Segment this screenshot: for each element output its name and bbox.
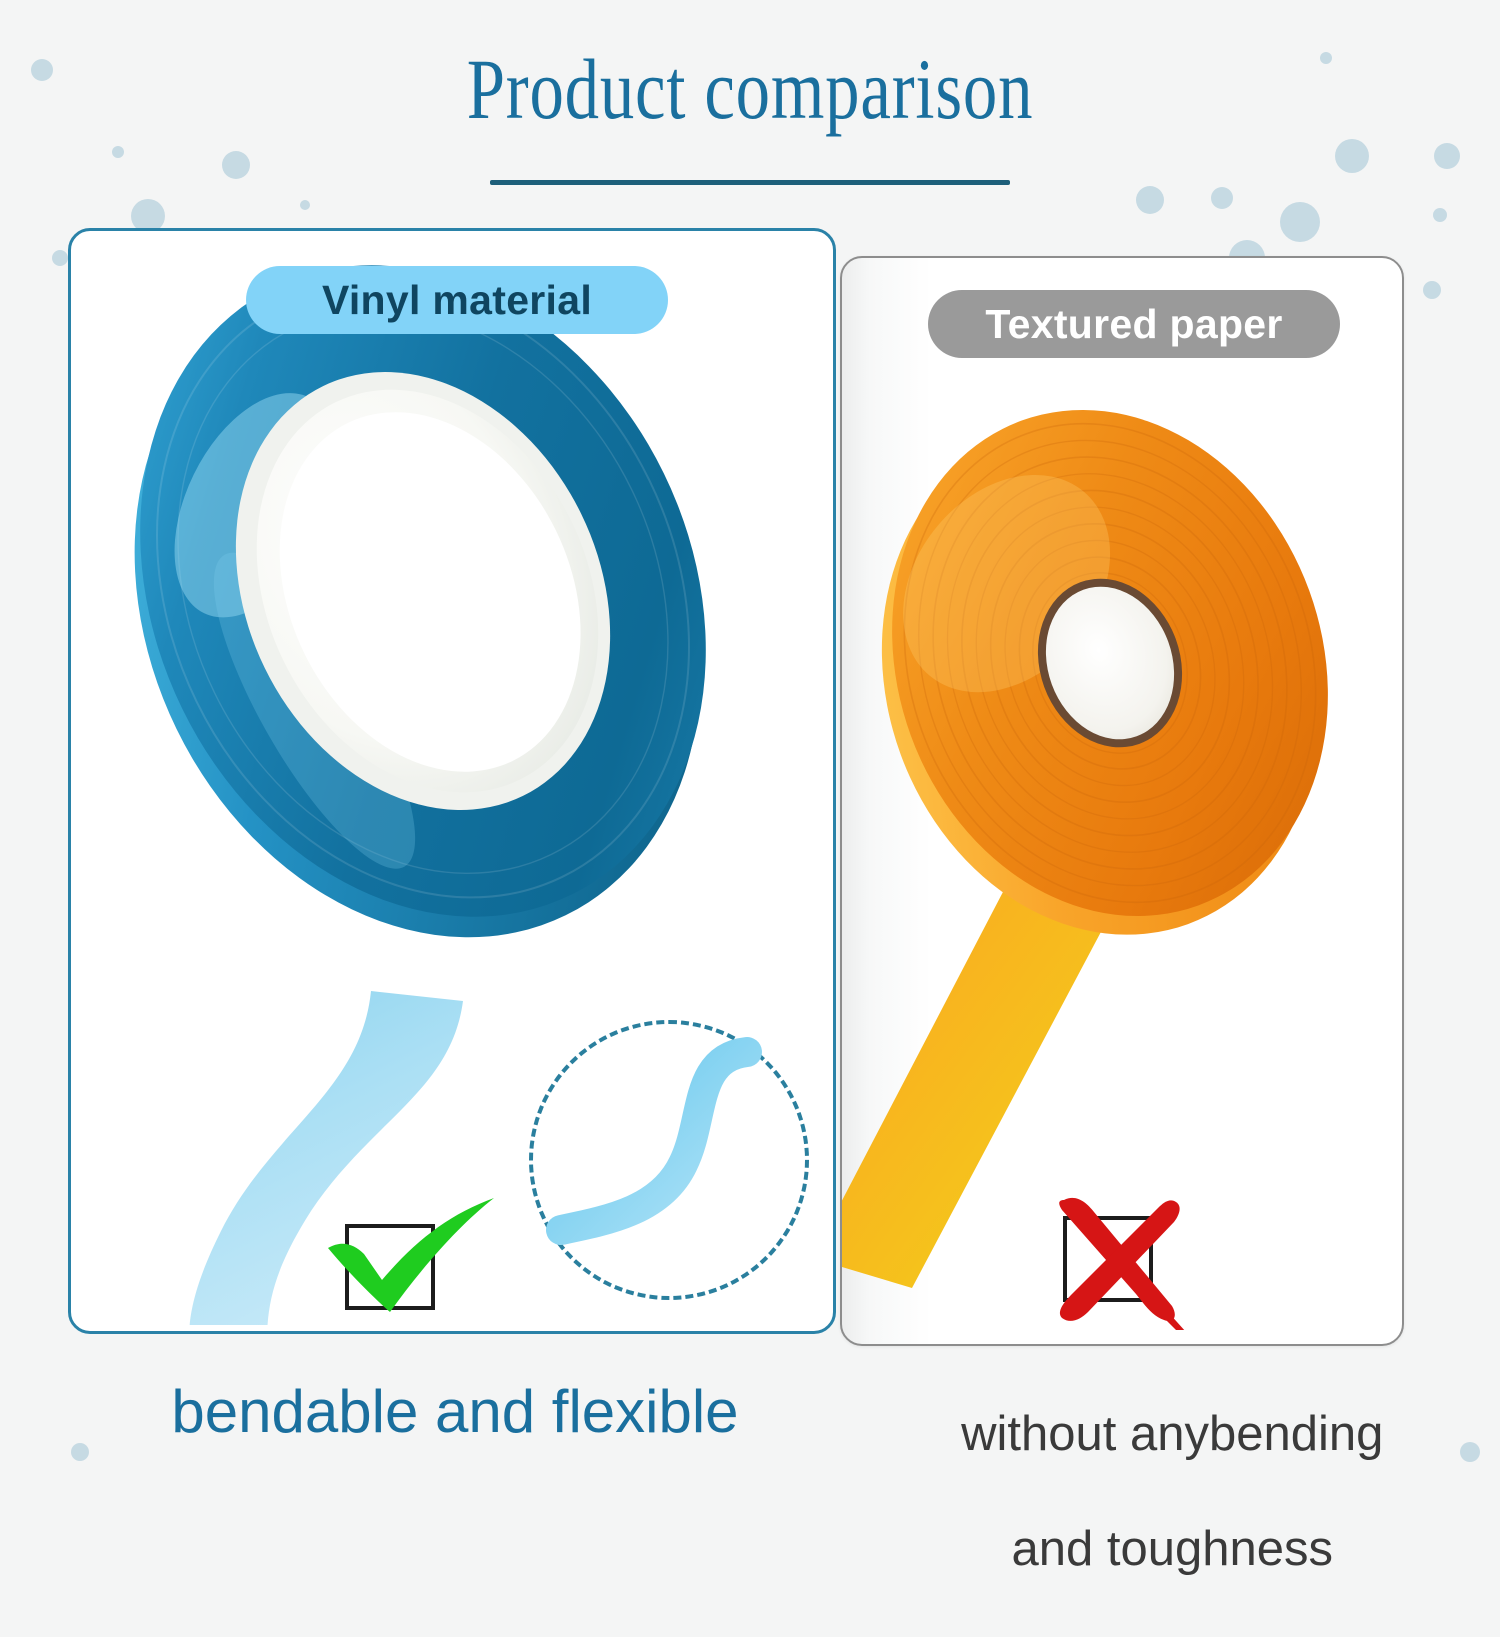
flexibility-callout-circle <box>529 1020 809 1300</box>
caption-paper-line1: without anybending <box>961 1407 1383 1461</box>
decorative-dot <box>1434 143 1460 169</box>
decorative-dot <box>300 200 310 210</box>
checkbox-outline-fail <box>1063 1216 1153 1302</box>
decorative-dot <box>1136 186 1164 214</box>
s-curve-icon <box>533 1024 797 1288</box>
decorative-dot <box>1423 281 1441 299</box>
infographic-stage: Product comparison <box>0 0 1500 1500</box>
decorative-dot <box>1280 202 1320 242</box>
decorative-dot <box>222 151 250 179</box>
page-title: Product comparison <box>150 44 1350 134</box>
decorative-dot <box>52 250 68 266</box>
caption-vinyl: bendable and flexible <box>60 1378 850 1445</box>
checkbox-outline-pass <box>345 1224 435 1310</box>
caption-paper-line2: and toughness <box>1011 1522 1333 1576</box>
decorative-dot <box>31 59 53 81</box>
decorative-dot <box>1335 139 1369 173</box>
decorative-dot <box>1211 187 1233 209</box>
caption-paper: without anybending and toughness <box>830 1348 1460 1637</box>
title-underline <box>490 180 1010 185</box>
panel-textured-paper[interactable] <box>840 256 1404 1346</box>
orange-paper-tape-roll-image <box>842 258 1402 1344</box>
decorative-dot <box>112 146 124 158</box>
badge-vinyl-material: Vinyl material <box>246 266 668 334</box>
badge-textured-paper: Textured paper <box>928 290 1340 358</box>
decorative-dot <box>1460 1442 1480 1462</box>
decorative-dot <box>1433 208 1447 222</box>
decorative-dot <box>71 1443 89 1461</box>
